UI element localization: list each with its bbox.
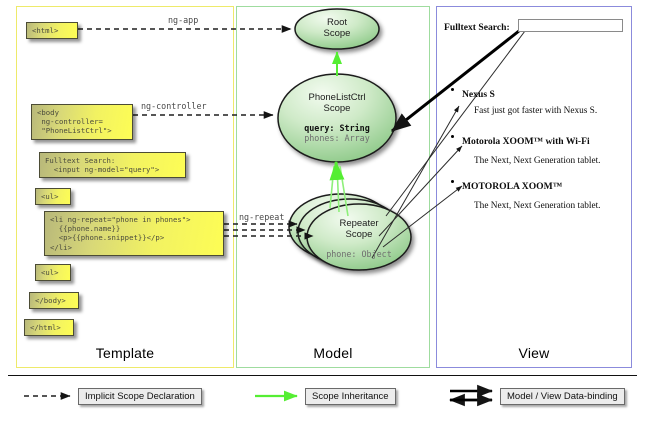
panel-model: Model [236, 6, 430, 368]
scope-repeater-prop-phone: phone: Object [309, 249, 409, 259]
phone-name: Motorola XOOM™ with Wi-Fi [462, 136, 590, 147]
scope-repeater-title-2: Scope [309, 229, 409, 240]
list-item: MOTOROLA XOOM™ [462, 176, 562, 194]
code-block-html-open: <html> [26, 22, 78, 39]
panel-template-label: Template [17, 345, 233, 361]
edge-label-ng-repeat: ng-repeat [239, 212, 284, 222]
legend-implicit-scope-declaration: Implicit Scope Declaration [78, 388, 202, 405]
code-block-li-repeat: <li ng-repeat="phone in phones"> {{phone… [44, 211, 224, 256]
scope-root: Root Scope [297, 17, 377, 39]
edge-label-ng-app: ng-app [168, 15, 198, 25]
bullet-icon [451, 135, 454, 138]
phone-snippet: Fast just got faster with Nexus S. [474, 106, 597, 116]
scope-phonelist-title-1: PhoneListCtrl [277, 92, 397, 103]
list-item: Nexus S [462, 84, 495, 102]
bullet-icon [451, 180, 454, 183]
scope-phonelist-prop-query: query: String [277, 123, 397, 133]
scope-phonelistctrl: PhoneListCtrl Scope query: String phones… [277, 92, 397, 143]
code-block-html-close: </html> [24, 319, 74, 336]
scope-repeater: Repeater Scope phone: Object [309, 218, 409, 259]
phone-name: Nexus S [462, 89, 495, 100]
diagram-canvas: Template Model View [0, 0, 645, 425]
panel-view-label: View [437, 345, 631, 361]
legend-scope-inheritance: Scope Inheritance [305, 388, 396, 405]
legend-divider [8, 375, 637, 376]
scope-phonelist-title-2: Scope [277, 103, 397, 114]
code-block-ul-open: <ul> [35, 188, 71, 205]
view-search-label: Fulltext Search: [444, 22, 510, 33]
scope-phonelist-prop-phones: phones: Array [277, 133, 397, 143]
code-block-body-open: <body ng-controller= "PhoneListCtrl"> [31, 104, 133, 140]
scope-root-title-2: Scope [297, 28, 377, 39]
panel-template: Template [16, 6, 234, 368]
search-input[interactable] [518, 19, 623, 32]
edge-label-ng-controller: ng-controller [141, 101, 207, 111]
list-item: Motorola XOOM™ with Wi-Fi [462, 131, 590, 149]
code-block-search-input: Fulltext Search: <input ng-model="query"… [39, 152, 186, 178]
code-block-ul-close: <ul> [35, 264, 71, 281]
scope-root-title-1: Root [297, 17, 377, 28]
phone-name: MOTOROLA XOOM™ [462, 181, 562, 192]
scope-repeater-title-1: Repeater [309, 218, 409, 229]
bullet-icon [451, 88, 454, 91]
code-block-body-close: </body> [29, 292, 79, 309]
panel-model-label: Model [237, 345, 429, 361]
phone-snippet: The Next, Next Generation tablet. [474, 156, 601, 166]
legend-model-view-data-binding: Model / View Data-binding [500, 388, 625, 405]
phone-snippet: The Next, Next Generation tablet. [474, 201, 601, 211]
